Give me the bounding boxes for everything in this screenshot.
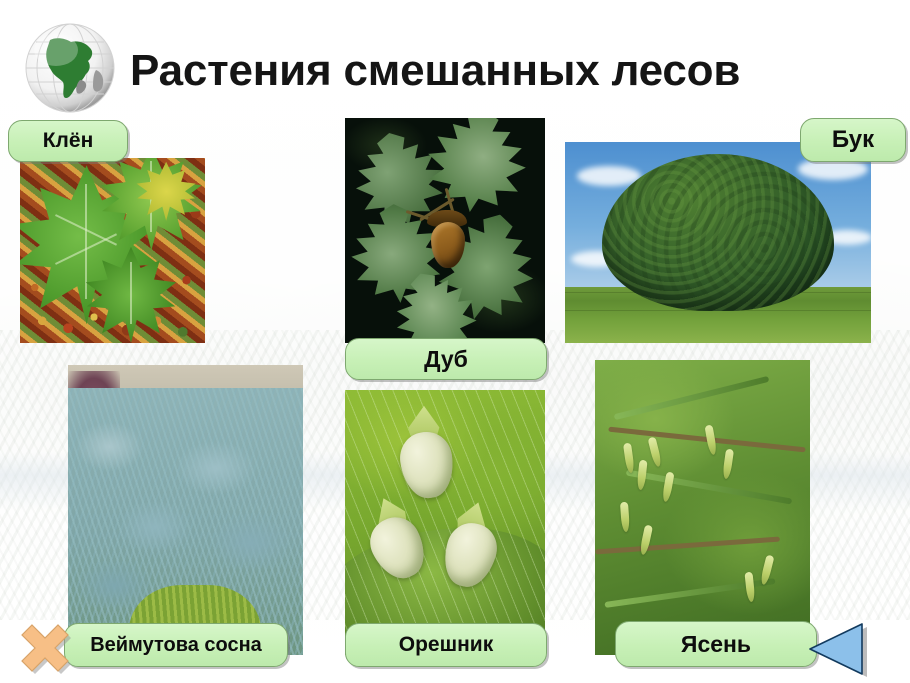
photo-maple — [20, 158, 205, 343]
globe-north-america-icon — [20, 18, 120, 118]
photo-pine — [68, 365, 303, 655]
label-oak[interactable]: Дуб — [345, 338, 547, 380]
label-oak-text: Дуб — [424, 346, 468, 373]
label-maple-text: Клён — [43, 129, 94, 153]
label-hazel-text: Орешник — [399, 633, 493, 657]
label-pine-text: Веймутова сосна — [90, 634, 262, 657]
photo-hazel — [345, 390, 545, 655]
orange-cross-icon[interactable] — [10, 617, 72, 679]
label-ash-text: Ясень — [681, 631, 751, 658]
left-arrow-icon[interactable] — [800, 618, 880, 680]
slide-canvas: Растения смешанных лесов — [0, 0, 910, 683]
label-beech-text: Бук — [832, 126, 874, 154]
page-title: Растения смешанных лесов — [130, 46, 740, 96]
label-hazel[interactable]: Орешник — [345, 623, 547, 667]
label-ash[interactable]: Ясень — [615, 621, 817, 667]
label-maple[interactable]: Клён — [8, 120, 128, 162]
label-pine[interactable]: Веймутова сосна — [64, 623, 288, 667]
photo-beech — [565, 142, 871, 343]
photo-ash — [595, 360, 810, 655]
photo-oak — [345, 118, 545, 343]
label-beech[interactable]: Бук — [800, 118, 906, 162]
hazel-leaf-veins — [345, 390, 545, 655]
